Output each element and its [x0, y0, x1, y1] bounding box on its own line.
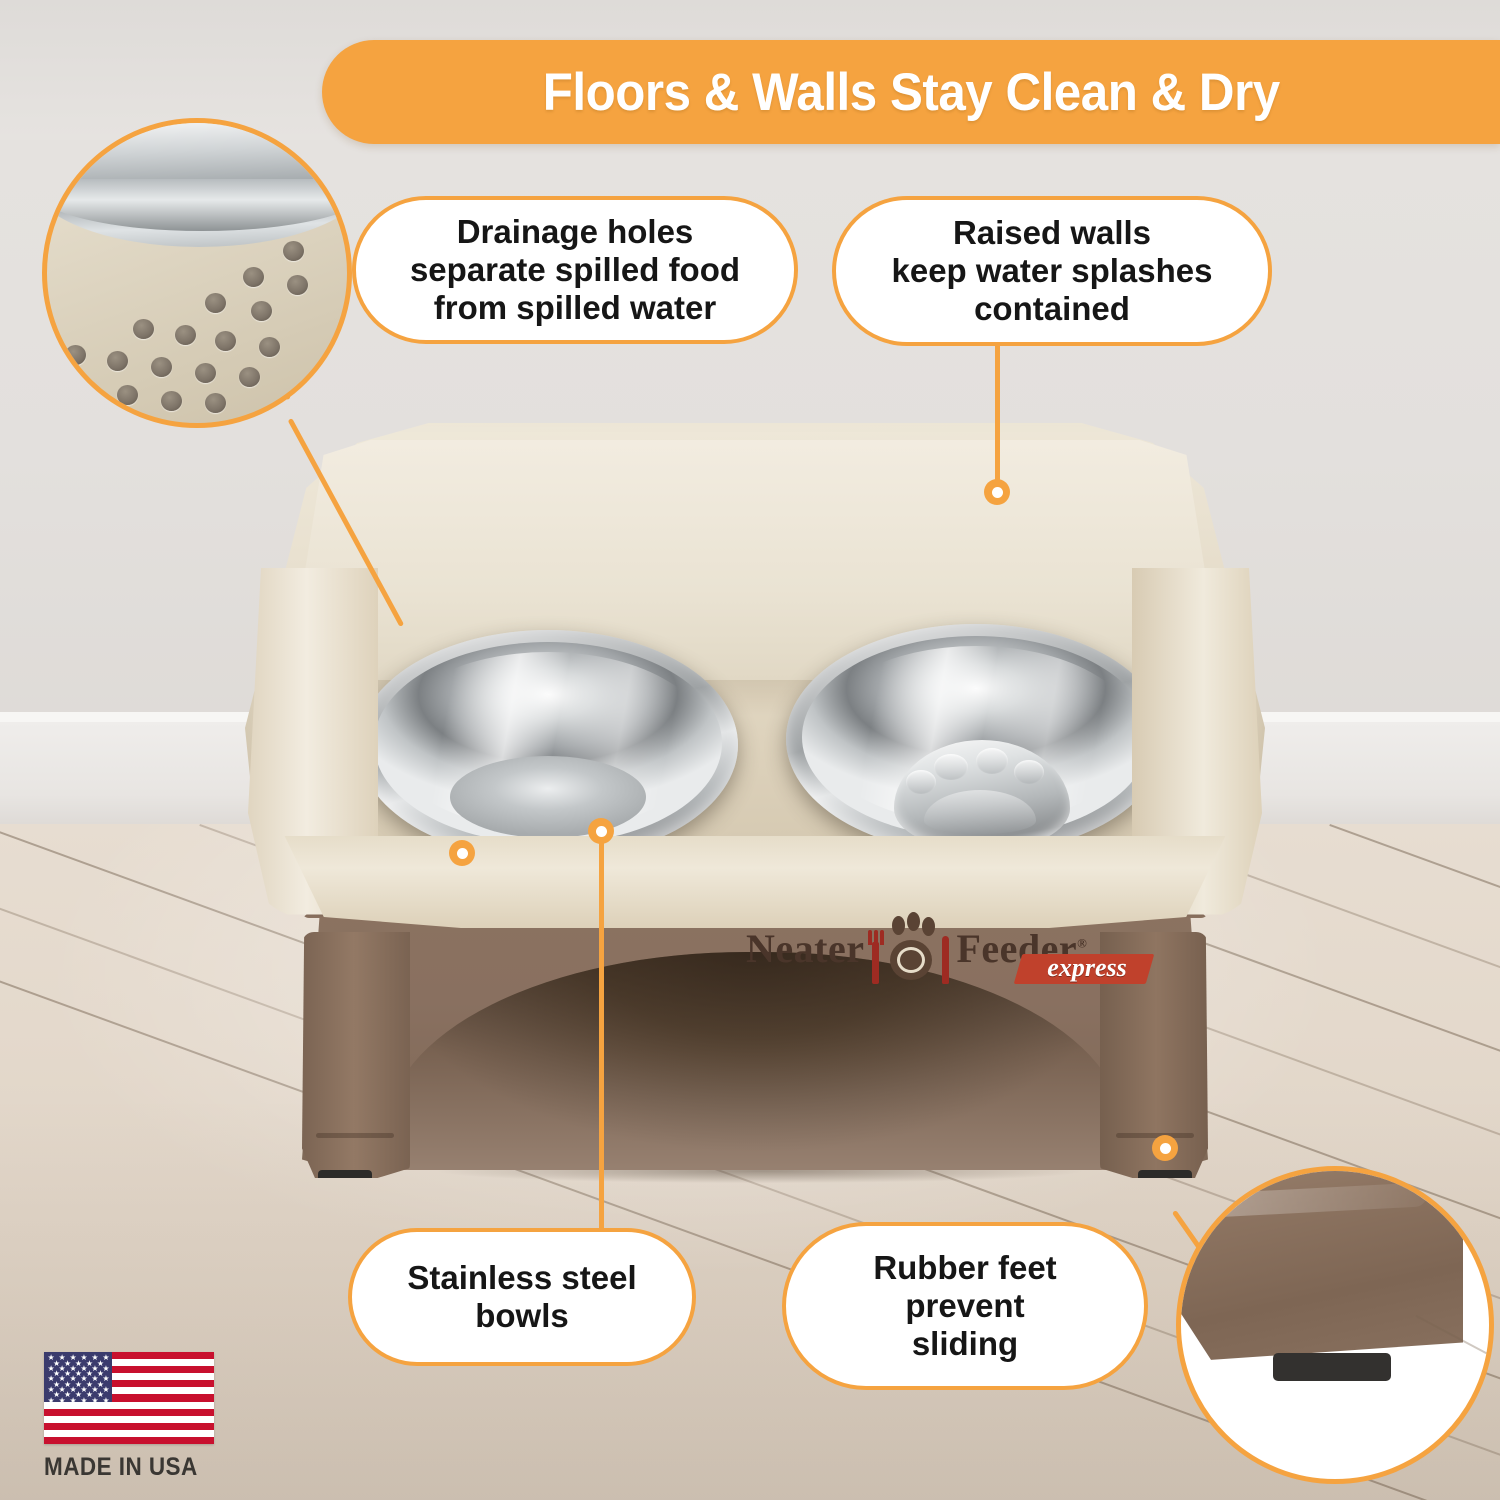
callout-raised-walls[interactable]: Raised wallskeep water splashescontained	[832, 196, 1272, 346]
page-title: Floors & Walls Stay Clean & Dry	[543, 62, 1280, 123]
registered-mark-icon: ®	[1077, 936, 1087, 951]
inset-rubber-foot-closeup	[1176, 1166, 1494, 1484]
callout-drainage-holes[interactable]: Drainage holesseparate spilled foodfrom …	[352, 196, 798, 344]
flag-canton: ★★★★★★★★★★★★★★★★★★★★★★★★★★★★★★★★★★★★★★★★…	[44, 1352, 112, 1402]
callout-dot-stainless-bowls	[588, 818, 614, 844]
flag-star: ★	[69, 1397, 76, 1405]
callout-stainless-bowls-text: Stainless steelbowls	[407, 1259, 636, 1336]
connector-bowls-to-callout	[599, 828, 604, 1234]
paw-print-plate-fork-knife-icon	[868, 912, 952, 986]
flag-star: ★	[58, 1397, 65, 1405]
callout-dot-drainage	[449, 840, 475, 866]
callout-rubber-feet[interactable]: Rubber feetpreventsliding	[782, 1222, 1148, 1390]
flag-star: ★	[91, 1397, 98, 1405]
product-logo: Neater Feeder® express	[746, 908, 1166, 990]
leg-highlight	[1176, 1182, 1427, 1219]
stainless-bowl-left	[358, 630, 738, 860]
infographic-canvas: Neater Feeder® express Floors & Walls St…	[0, 0, 1500, 1500]
leg-closeup	[1176, 1166, 1463, 1373]
inset-drainage-holes-closeup	[42, 118, 352, 428]
callout-dot-rubber-feet	[1152, 1135, 1178, 1161]
made-in-usa-label: MADE IN USA	[44, 1453, 202, 1482]
connector-walls-to-shell	[995, 346, 1000, 492]
callout-stainless-bowls[interactable]: Stainless steelbowls	[348, 1228, 696, 1366]
logo-word-neater: Neater	[746, 929, 864, 969]
flag-star: ★	[80, 1397, 87, 1405]
header-banner: Floors & Walls Stay Clean & Dry	[322, 40, 1500, 144]
flag-star: ★	[48, 1397, 55, 1405]
neater-feeder-product: Neater Feeder® express	[190, 418, 1320, 1178]
us-flag-icon: ★★★★★★★★★★★★★★★★★★★★★★★★★★★★★★★★★★★★★★★★…	[44, 1352, 214, 1444]
made-in-usa-badge: ★★★★★★★★★★★★★★★★★★★★★★★★★★★★★★★★★★★★★★★★…	[44, 1352, 220, 1484]
rubber-foot-pad-closeup	[1273, 1353, 1391, 1381]
callout-raised-walls-text: Raised wallskeep water splashescontained	[891, 214, 1212, 329]
logo-word-express: express	[1024, 952, 1150, 984]
callout-rubber-feet-text: Rubber feetpreventsliding	[873, 1249, 1056, 1364]
product-leg-left	[302, 932, 410, 1178]
flag-star: ★	[102, 1397, 109, 1405]
callout-drainage-text: Drainage holesseparate spilled foodfrom …	[410, 213, 740, 328]
callout-dot-raised-walls	[984, 479, 1010, 505]
